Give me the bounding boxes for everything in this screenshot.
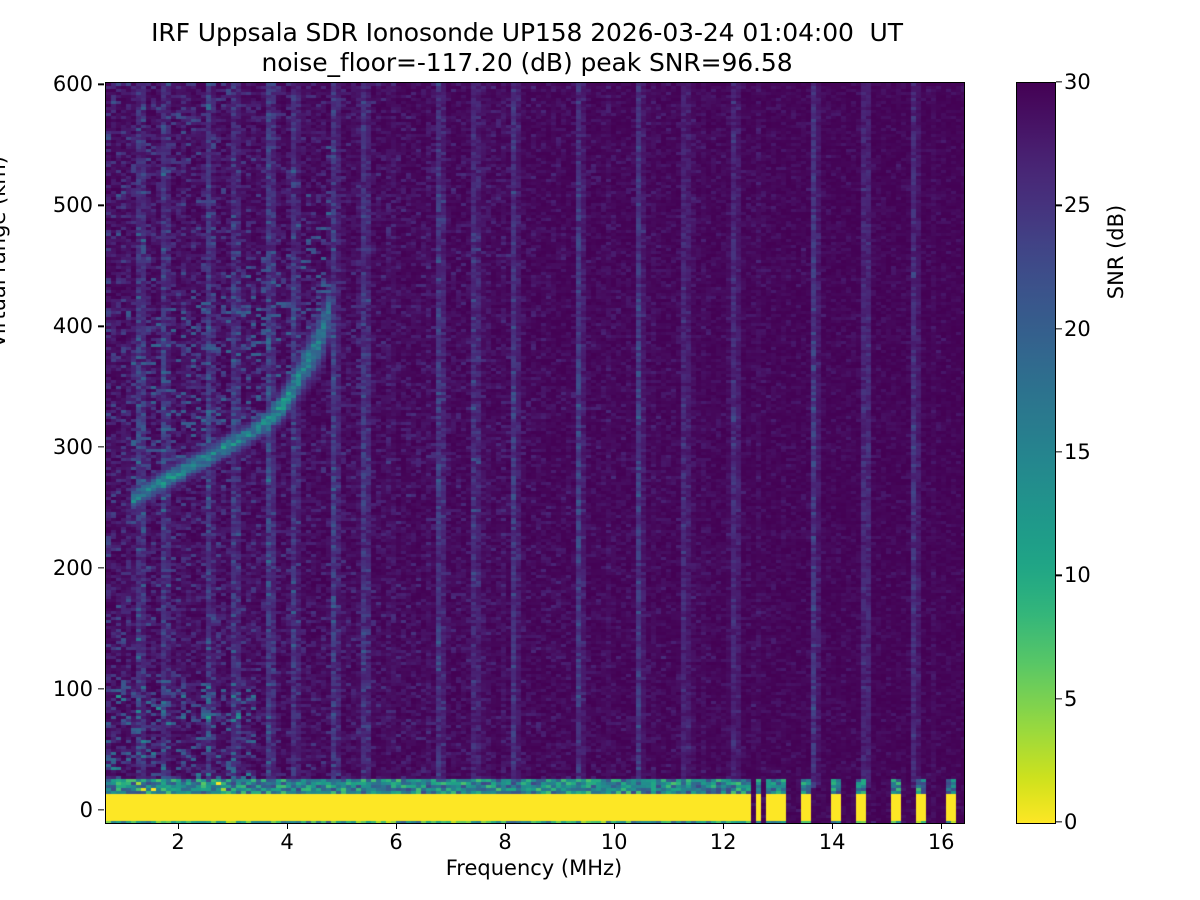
y-axis-label: Virtual range (km) <box>0 52 10 452</box>
colorbar-gradient <box>1017 83 1055 823</box>
title-line-primary: IRF Uppsala SDR Ionosonde UP158 2026-03-… <box>0 18 1054 48</box>
colorbar-tick-label: 15 <box>1064 440 1091 464</box>
colorbar-tick-label: 25 <box>1064 193 1091 217</box>
ionogram-figure: IRF Uppsala SDR Ionosonde UP158 2026-03-… <box>0 0 1200 900</box>
y-tick-label: 300 <box>13 435 93 459</box>
x-tick-mark <box>832 823 833 829</box>
colorbar-label: SNR (dB) <box>1104 52 1128 452</box>
y-tick-label: 500 <box>13 193 93 217</box>
figure-title: IRF Uppsala SDR Ionosonde UP158 2026-03-… <box>0 18 1054 78</box>
ionogram-heatmap <box>106 83 964 823</box>
x-tick-label: 8 <box>470 830 540 854</box>
x-tick-label: 14 <box>797 830 867 854</box>
colorbar-tick-label: 10 <box>1064 563 1091 587</box>
y-tick-mark <box>98 326 104 327</box>
x-tick-mark <box>287 823 288 829</box>
colorbar <box>1016 82 1056 824</box>
colorbar-tick-mark <box>1056 81 1062 82</box>
y-tick-mark <box>98 84 104 85</box>
x-tick-label: 4 <box>252 830 322 854</box>
x-tick-mark <box>723 823 724 829</box>
colorbar-tick-label: 20 <box>1064 317 1091 341</box>
y-tick-mark <box>98 567 104 568</box>
y-tick-mark <box>98 688 104 689</box>
x-tick-mark <box>396 823 397 829</box>
title-line-secondary: noise_floor=-117.20 (dB) peak SNR=96.58 <box>0 48 1054 78</box>
x-tick-mark <box>941 823 942 829</box>
colorbar-tick-mark <box>1056 575 1062 576</box>
x-tick-label: 2 <box>143 830 213 854</box>
colorbar-tick-mark <box>1056 821 1062 822</box>
y-tick-label: 100 <box>13 677 93 701</box>
colorbar-tick-mark <box>1056 698 1062 699</box>
x-tick-label: 16 <box>906 830 976 854</box>
x-axis-label: Frequency (MHz) <box>105 856 963 880</box>
y-tick-label: 400 <box>13 314 93 338</box>
x-tick-mark <box>614 823 615 829</box>
colorbar-tick-mark <box>1056 451 1062 452</box>
colorbar-tick-label: 0 <box>1064 810 1077 834</box>
colorbar-tick-label: 30 <box>1064 70 1091 94</box>
x-tick-label: 6 <box>361 830 431 854</box>
y-tick-mark <box>98 205 104 206</box>
y-tick-label: 0 <box>13 798 93 822</box>
y-tick-mark <box>98 809 104 810</box>
ionogram-plot-area <box>105 82 965 824</box>
colorbar-tick-mark <box>1056 205 1062 206</box>
y-tick-label: 200 <box>13 556 93 580</box>
x-tick-label: 10 <box>579 830 649 854</box>
colorbar-tick-mark <box>1056 328 1062 329</box>
x-tick-mark <box>505 823 506 829</box>
y-tick-label: 600 <box>13 72 93 96</box>
x-tick-label: 12 <box>688 830 758 854</box>
colorbar-tick-label: 5 <box>1064 687 1077 711</box>
x-tick-mark <box>178 823 179 829</box>
y-tick-mark <box>98 447 104 448</box>
